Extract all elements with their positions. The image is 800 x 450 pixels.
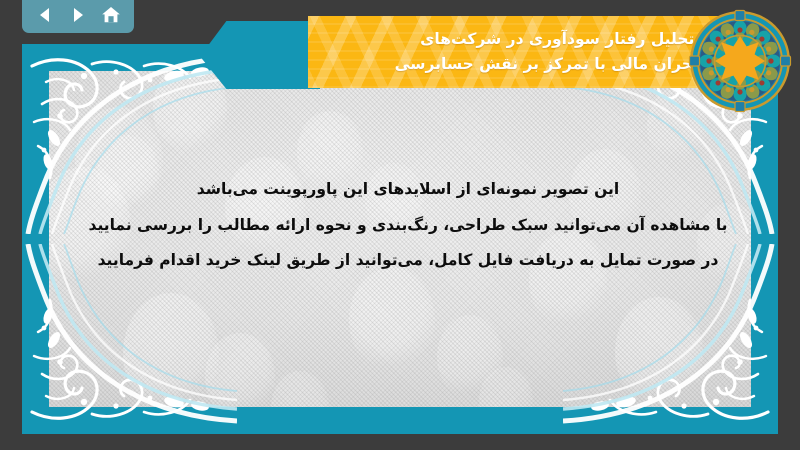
slide-frame: این تصویر نمونه‌ای از اسلایدهای این پاور… [22,44,778,434]
home-button[interactable] [98,2,124,28]
triangle-left-icon [35,5,55,25]
bokeh-circle [205,333,275,407]
title-line: دچار بحران مالی با تمرکز بر نقش حسابرسی [395,52,738,77]
body-line: این تصویر نمونه‌ای از اسلایدهای این پاور… [82,172,734,208]
bokeh-circle [349,267,435,373]
bokeh-circle [123,293,219,407]
body-line: با مشاهده آن می‌توانید سبک طراحی، رنگ‌بن… [82,208,734,244]
title-banner: کامل تحلیل رفتار سودآوری در شرکت‌های دچا… [200,16,760,94]
home-icon [100,4,122,26]
slide-body-text: این تصویر نمونه‌ای از اسلایدهای این پاور… [82,172,734,279]
slide-viewer: این تصویر نمونه‌ای از اسلایدهای این پاور… [0,0,800,450]
bokeh-circle [271,371,329,407]
body-line: در صورت تمایل به دریافت فایل کامل، می‌تو… [82,243,734,279]
triangle-right-icon [68,5,88,25]
banner-chevron-tail [200,21,320,89]
persian-medallion-ornament-icon [688,9,792,113]
navigation-bar [22,0,134,33]
bokeh-circle [615,297,703,407]
forward-button[interactable] [65,2,91,28]
back-button[interactable] [32,2,58,28]
